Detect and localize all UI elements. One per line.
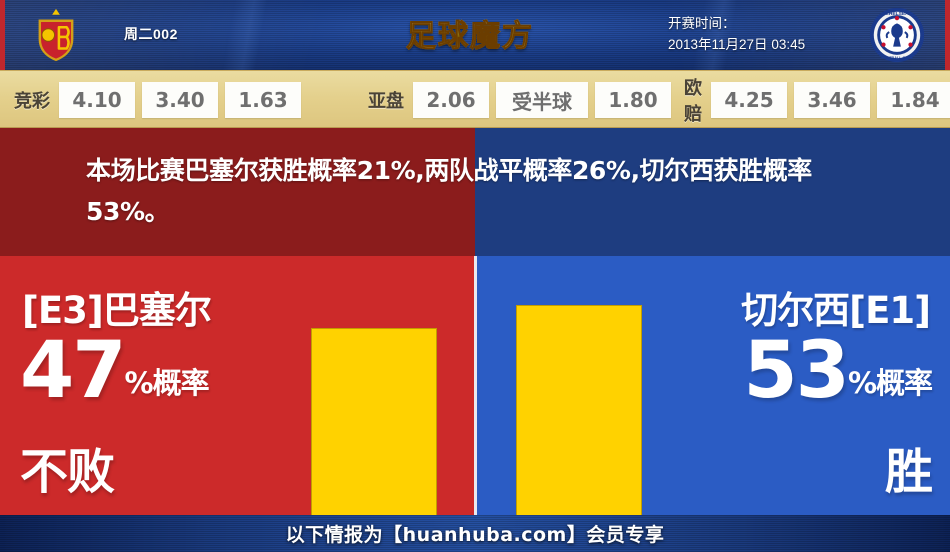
svg-text:FOOTBALL CLUB: FOOTBALL CLUB <box>881 56 913 60</box>
kickoff-label: 开赛时间： <box>668 13 805 34</box>
away-percent-label: %概率 <box>848 367 932 408</box>
match-number: 周二002 <box>124 24 178 44</box>
summary-band: 本场比赛巴塞尔获胜概率21%,两队战平概率26%,切尔西获胜概率53%。 <box>0 128 950 256</box>
footer-bar: 以下情报为【huanhuba.com】会员专享 <box>0 515 950 552</box>
header-sheen-left <box>170 0 320 70</box>
odds-group-label: 竞彩 <box>14 87 50 113</box>
prediction-summary-text: 本场比赛巴塞尔获胜概率21%,两队战平概率26%,切尔西获胜概率53%。 <box>86 150 886 232</box>
header-right-accent <box>945 0 950 70</box>
odds-cell-away[interactable]: 1.84 <box>877 82 950 118</box>
home-probability: 47 %概率 <box>20 334 209 408</box>
odds-group-yapan: 亚盘 2.06 受半球 1.80 <box>368 82 678 118</box>
brand-logo-text: 足球魔方 <box>406 11 534 55</box>
bar-away <box>516 305 642 515</box>
odds-cell-home[interactable]: 4.25 <box>711 82 787 118</box>
odds-cell-draw[interactable]: 3.40 <box>142 82 218 118</box>
odds-cell-handicap[interactable]: 受半球 <box>496 82 588 118</box>
probability-chart: [E3]巴塞尔 47 %概率 不败 切尔西[E1] 53 %概率 胜 <box>0 256 950 515</box>
odds-group-oupei: 欧赔 4.25 3.46 1.84 <box>684 82 950 118</box>
bar-home <box>311 328 437 515</box>
home-percent-label: %概率 <box>125 367 209 408</box>
home-percent-value: 47 <box>20 334 125 408</box>
odds-cell-home[interactable]: 4.10 <box>59 82 135 118</box>
odds-group-jingcai: 竞彩 4.10 3.40 1.63 <box>14 82 308 118</box>
header-left-accent <box>0 0 5 70</box>
footer-membership-note: 以下情报为【huanhuba.com】会员专享 <box>0 515 950 552</box>
home-verdict: 不败 <box>20 432 114 502</box>
odds-cell-draw[interactable]: 3.46 <box>794 82 870 118</box>
header-bar: CHELSEA FOOTBALL CLUB 周二002 足球魔方 开赛时间： 2… <box>0 0 950 70</box>
kickoff-time: 2013年11月27日 03:45 <box>668 34 805 55</box>
odds-group-label: 亚盘 <box>368 87 404 113</box>
kickoff-block: 开赛时间： 2013年11月27日 03:45 <box>668 13 805 55</box>
odds-cell-home[interactable]: 2.06 <box>413 82 489 118</box>
chelsea-crest-icon: CHELSEA FOOTBALL CLUB <box>868 6 926 64</box>
svg-text:CHELSEA: CHELSEA <box>885 11 909 17</box>
match-prediction-graphic: CHELSEA FOOTBALL CLUB 周二002 足球魔方 开赛时间： 2… <box>0 0 950 552</box>
basel-crest-icon <box>27 6 85 64</box>
odds-cell-away[interactable]: 1.80 <box>595 82 671 118</box>
away-percent-value: 53 <box>743 334 848 408</box>
away-verdict: 胜 <box>885 432 932 502</box>
odds-bar: 竞彩 4.10 3.40 1.63 亚盘 2.06 受半球 1.80 欧赔 4.… <box>0 70 950 128</box>
odds-cell-away[interactable]: 1.63 <box>225 82 301 118</box>
away-probability: 53 %概率 <box>743 334 932 408</box>
odds-group-label: 欧赔 <box>684 74 702 126</box>
